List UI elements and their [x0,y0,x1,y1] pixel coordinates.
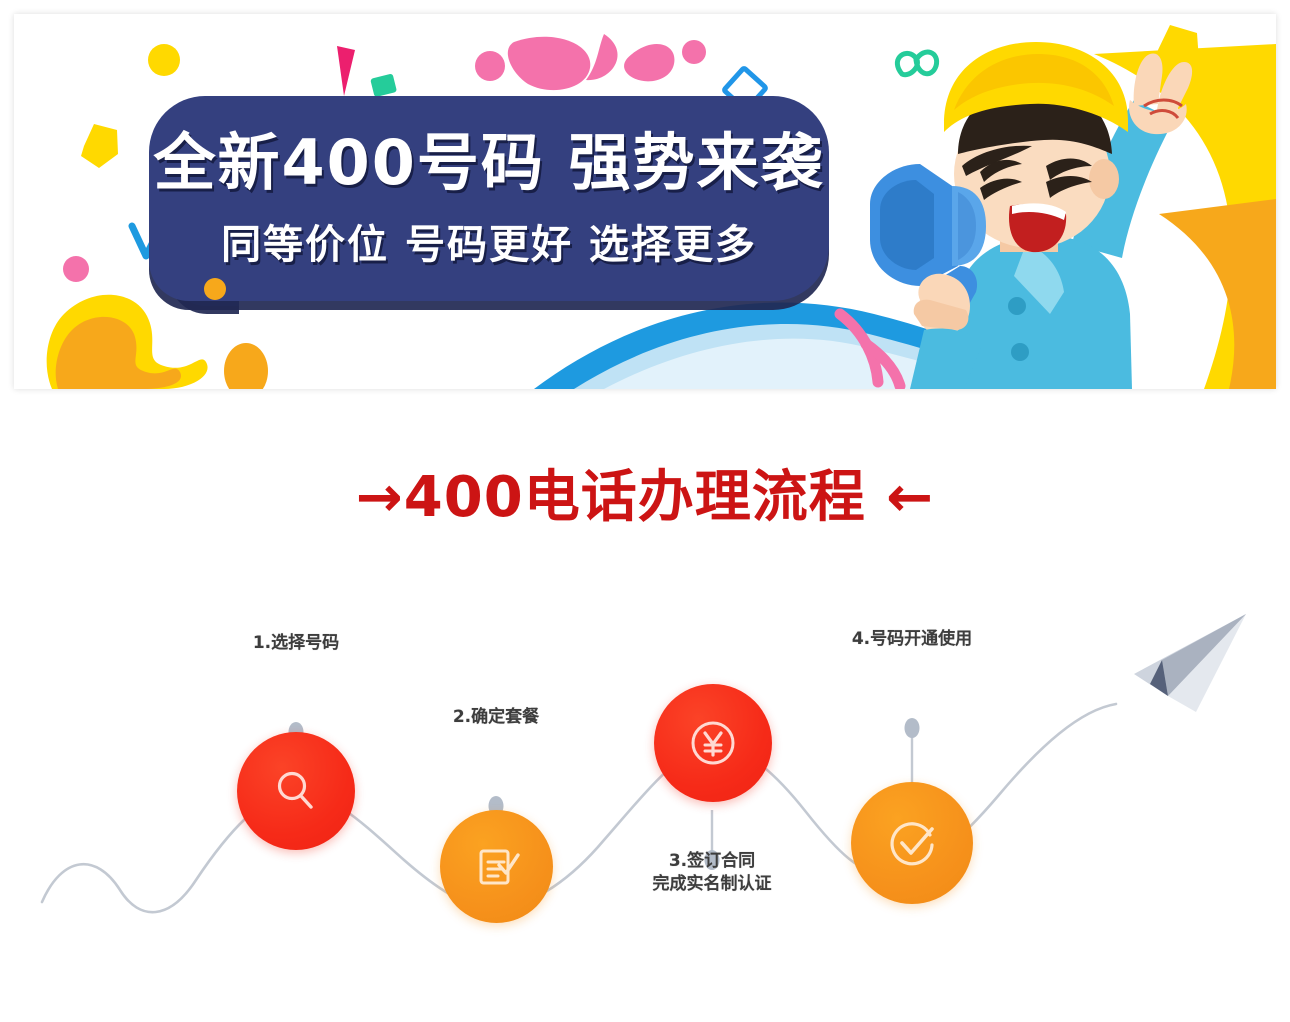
flow-step-title-1: 1.选择号码 [253,633,339,653]
flow-step-label-2: 2.确定套餐 [396,706,596,729]
search-icon [271,766,321,816]
banner-headline: 全新400号码 强势来袭 [149,112,829,202]
flow-step-label-3: 3.签订合同 完成实名制认证 [612,850,812,896]
yellow-dot [148,44,180,76]
flow-step-label-1: 1.选择号码 [196,632,396,655]
pink-dot [63,256,89,282]
flow-node-3[interactable] [654,684,772,802]
flow-step-subtitle-3: 完成实名制认证 [612,873,812,896]
page-title: →400电话办理流程 ← [0,452,1290,533]
bubble-accent-dot [202,276,228,302]
pink-dot [475,51,505,81]
banner-subheadline: 同等价位 号码更好 选择更多 [149,212,829,270]
flow-node-1[interactable] [237,732,355,850]
flow-node-2[interactable] [440,810,553,923]
flow-step-title-3: 3.签订合同 [669,851,755,871]
promo-banner: 全新400号码 强势来袭 同等价位 号码更好 选择更多 [14,14,1276,389]
flow-step-label-4: 4.号码开通使用 [812,628,1012,651]
flow-node-4[interactable] [851,782,973,904]
document-check-icon [473,843,521,891]
flow-step-title-4: 4.号码开通使用 [852,629,972,649]
yuan-currency-icon [687,717,739,769]
flow-step-title-2: 2.确定套餐 [453,707,539,727]
paper-plane-icon [1134,614,1246,712]
check-circle-icon [884,815,940,871]
flow-path-artwork [0,560,1290,990]
pink-dot [682,40,706,64]
process-flow-diagram: 1.选择号码 2.确定套餐 3.签订合同 完成实名制认证 [0,560,1290,990]
